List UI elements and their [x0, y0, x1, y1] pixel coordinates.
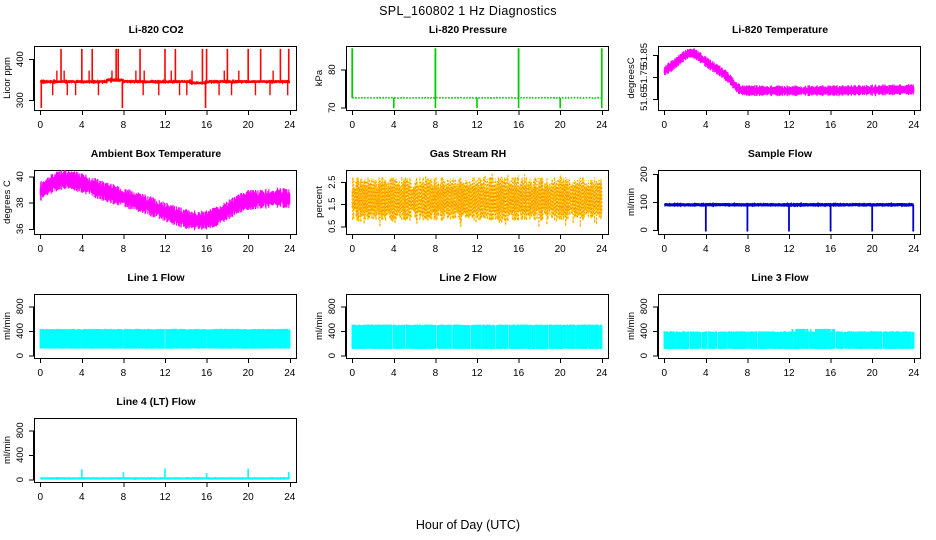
series-sample-flow	[664, 204, 914, 231]
x-tick-label: 24	[284, 244, 296, 255]
y-tick-label: 51.75	[639, 65, 650, 89]
x-tick-label: 12	[471, 120, 483, 131]
y-tick-label: 800	[15, 298, 26, 314]
y-tick-label: 400	[15, 51, 26, 67]
x-tick-label: 12	[471, 244, 483, 255]
y-tick-label: 0	[639, 353, 650, 358]
series-line-1-flow	[40, 329, 290, 349]
x-tick-label: 24	[284, 368, 296, 379]
y-axis-label-li820-co2: Licor ppm	[2, 57, 13, 99]
panel-title-li820-temperature: Li-820 Temperature	[624, 24, 936, 36]
panel-title-li820-co2: Li-820 CO2	[0, 24, 312, 36]
y-tick-label: 80	[327, 64, 338, 75]
x-tick-label: 12	[783, 120, 795, 131]
y-tick-label: 300	[15, 92, 26, 108]
y-tick-label: 38	[15, 197, 26, 208]
x-tick-label: 20	[243, 492, 255, 503]
panel-line-4-lt-flow: Line 4 (LT) Flow0400800ml/min04812162024	[0, 396, 312, 520]
x-tick-label: 16	[825, 368, 837, 379]
x-tick-label: 12	[159, 492, 171, 503]
x-tick-label: 4	[703, 368, 709, 379]
plot-line-1-flow: 0400800ml/min04812162024	[0, 272, 312, 396]
y-axis-label-line-4-lt-flow: ml/min	[2, 436, 13, 464]
panel-title-ambient-box-temperature: Ambient Box Temperature	[0, 148, 312, 160]
x-tick-label: 12	[783, 244, 795, 255]
series-gas-stream-rh	[352, 173, 602, 227]
x-tick-label: 24	[908, 120, 920, 131]
y-tick-label: 0	[327, 353, 338, 358]
x-tick-label: 4	[79, 368, 85, 379]
x-tick-label: 16	[513, 244, 525, 255]
x-tick-label: 0	[37, 368, 43, 379]
x-tick-label: 16	[825, 120, 837, 131]
series-ambient-box-temperature	[40, 170, 290, 231]
y-tick-label: 70	[327, 102, 338, 113]
series-line-4-lt-flow	[40, 468, 290, 478]
x-tick-label: 20	[867, 120, 879, 131]
x-tick-label: 0	[37, 492, 43, 503]
y-tick-label: 51.85	[639, 43, 650, 67]
x-tick-label: 8	[745, 244, 751, 255]
x-tick-label: 12	[783, 368, 795, 379]
x-tick-label: 16	[201, 244, 213, 255]
y-tick-label: 800	[327, 298, 338, 314]
x-tick-label: 12	[471, 368, 483, 379]
x-tick-label: 0	[349, 120, 355, 131]
x-tick-label: 8	[121, 492, 127, 503]
plot-line-2-flow: 0400800ml/min04812162024	[312, 272, 624, 396]
y-tick-label: 400	[639, 323, 650, 339]
y-tick-label: 0	[639, 227, 650, 232]
x-tick-label: 24	[908, 368, 920, 379]
x-tick-label: 4	[79, 120, 85, 131]
x-tick-label: 8	[433, 368, 439, 379]
x-tick-label: 12	[159, 368, 171, 379]
panel-ambient-box-temperature: Ambient Box Temperature363840degrees C04…	[0, 148, 312, 272]
series-li820-temperature	[664, 48, 914, 96]
x-tick-label: 0	[349, 244, 355, 255]
x-tick-label: 8	[745, 120, 751, 131]
y-tick-label: 40	[15, 171, 26, 182]
series-line-3-flow	[664, 329, 914, 349]
x-tick-label: 24	[596, 120, 608, 131]
x-tick-label: 8	[745, 368, 751, 379]
x-tick-label: 20	[555, 244, 567, 255]
y-tick-label: 400	[15, 447, 26, 463]
plot-li820-temperature: 51.6551.7551.85degreesC04812162024	[624, 24, 936, 148]
plot-ambient-box-temperature: 363840degrees C04812162024	[0, 148, 312, 272]
x-tick-label: 20	[243, 244, 255, 255]
x-tick-label: 24	[596, 244, 608, 255]
diagnostics-figure: SPL_160802 1 Hz Diagnostics Li-820 CO230…	[0, 0, 936, 540]
x-tick-label: 16	[513, 368, 525, 379]
x-tick-label: 12	[159, 244, 171, 255]
plot-gas-stream-rh: 0.51.52.5percent04812162024	[312, 148, 624, 272]
x-tick-label: 20	[243, 368, 255, 379]
x-tick-label: 0	[661, 244, 667, 255]
series-line-2-flow	[352, 324, 602, 349]
y-axis-label-li820-temperature: degreesC	[626, 57, 637, 98]
y-tick-label: 400	[15, 323, 26, 339]
x-tick-label: 24	[284, 120, 296, 131]
x-tick-label: 16	[513, 120, 525, 131]
x-tick-label: 0	[349, 368, 355, 379]
plot-li820-pressure: 7080kPa04812162024	[312, 24, 624, 148]
x-tick-label: 20	[867, 244, 879, 255]
x-tick-label: 20	[555, 120, 567, 131]
figure-x-axis-label: Hour of Day (UTC)	[0, 518, 936, 532]
y-axis-label-gas-stream-rh: percent	[314, 186, 325, 218]
plot-sample-flow: 0100200ml/min04812162024	[624, 148, 936, 272]
x-tick-label: 12	[159, 120, 171, 131]
x-tick-label: 4	[703, 244, 709, 255]
y-tick-label: 400	[327, 323, 338, 339]
y-tick-label: 0.5	[327, 220, 338, 233]
y-tick-label: 800	[15, 422, 26, 438]
x-tick-label: 4	[79, 244, 85, 255]
x-tick-label: 20	[867, 368, 879, 379]
y-tick-label: 51.65	[639, 87, 650, 111]
x-tick-label: 16	[201, 492, 213, 503]
y-axis-label-line-3-flow: ml/min	[626, 312, 637, 340]
y-tick-label: 800	[639, 298, 650, 314]
panel-title-line-1-flow: Line 1 Flow	[0, 272, 312, 284]
plot-box	[35, 295, 297, 359]
x-tick-label: 8	[121, 244, 127, 255]
series-li820-co2	[40, 49, 290, 108]
y-axis-label-li820-pressure: kPa	[314, 69, 325, 86]
x-tick-label: 24	[596, 368, 608, 379]
y-tick-label: 0	[15, 477, 26, 482]
x-tick-label: 4	[79, 492, 85, 503]
panel-line-3-flow: Line 3 Flow0400800ml/min04812162024	[624, 272, 936, 396]
figure-title: SPL_160802 1 Hz Diagnostics	[0, 4, 936, 18]
y-tick-label: 36	[15, 223, 26, 234]
panel-gas-stream-rh: Gas Stream RH0.51.52.5percent04812162024	[312, 148, 624, 272]
y-tick-label: 2.5	[327, 176, 338, 189]
panel-title-li820-pressure: Li-820 Pressure	[312, 24, 624, 36]
x-tick-label: 0	[37, 244, 43, 255]
x-tick-label: 16	[201, 120, 213, 131]
plot-li820-co2: 300400Licor ppm04812162024	[0, 24, 312, 148]
x-tick-label: 24	[908, 244, 920, 255]
plot-line-4-lt-flow: 0400800ml/min04812162024	[0, 396, 312, 520]
panel-title-line-2-flow: Line 2 Flow	[312, 272, 624, 284]
x-tick-label: 0	[661, 120, 667, 131]
x-tick-label: 20	[555, 368, 567, 379]
panel-title-line-3-flow: Line 3 Flow	[624, 272, 936, 284]
x-tick-label: 4	[391, 244, 397, 255]
y-tick-label: 100	[639, 194, 650, 210]
x-tick-label: 8	[433, 120, 439, 131]
panel-title-gas-stream-rh: Gas Stream RH	[312, 148, 624, 160]
x-tick-label: 20	[243, 120, 255, 131]
y-tick-label: 1.5	[327, 198, 338, 211]
panel-li820-co2: Li-820 CO2300400Licor ppm04812162024	[0, 24, 312, 148]
panel-line-1-flow: Line 1 Flow0400800ml/min04812162024	[0, 272, 312, 396]
plot-line-3-flow: 0400800ml/min04812162024	[624, 272, 936, 396]
x-tick-label: 8	[433, 244, 439, 255]
panel-title-line-4-lt-flow: Line 4 (LT) Flow	[0, 396, 312, 408]
x-tick-label: 16	[825, 244, 837, 255]
panel-li820-temperature: Li-820 Temperature51.6551.7551.85degrees…	[624, 24, 936, 148]
y-axis-label-line-2-flow: ml/min	[314, 312, 325, 340]
panel-line-2-flow: Line 2 Flow0400800ml/min04812162024	[312, 272, 624, 396]
x-tick-label: 0	[661, 368, 667, 379]
y-axis-label-ambient-box-temperature: degrees C	[2, 180, 13, 224]
x-tick-label: 4	[391, 368, 397, 379]
y-axis-label-sample-flow: ml/min	[626, 188, 637, 216]
panel-sample-flow: Sample Flow0100200ml/min04812162024	[624, 148, 936, 272]
x-tick-label: 4	[391, 120, 397, 131]
x-tick-label: 24	[284, 492, 296, 503]
x-tick-label: 0	[37, 120, 43, 131]
x-tick-label: 8	[121, 368, 127, 379]
y-tick-label: 0	[15, 353, 26, 358]
series-li820-pressure	[352, 48, 602, 108]
x-tick-label: 16	[201, 368, 213, 379]
panel-title-sample-flow: Sample Flow	[624, 148, 936, 160]
panel-li820-pressure: Li-820 Pressure7080kPa04812162024	[312, 24, 624, 148]
y-tick-label: 200	[639, 166, 650, 182]
x-tick-label: 4	[703, 120, 709, 131]
x-tick-label: 8	[121, 120, 127, 131]
y-axis-label-line-1-flow: ml/min	[2, 312, 13, 340]
